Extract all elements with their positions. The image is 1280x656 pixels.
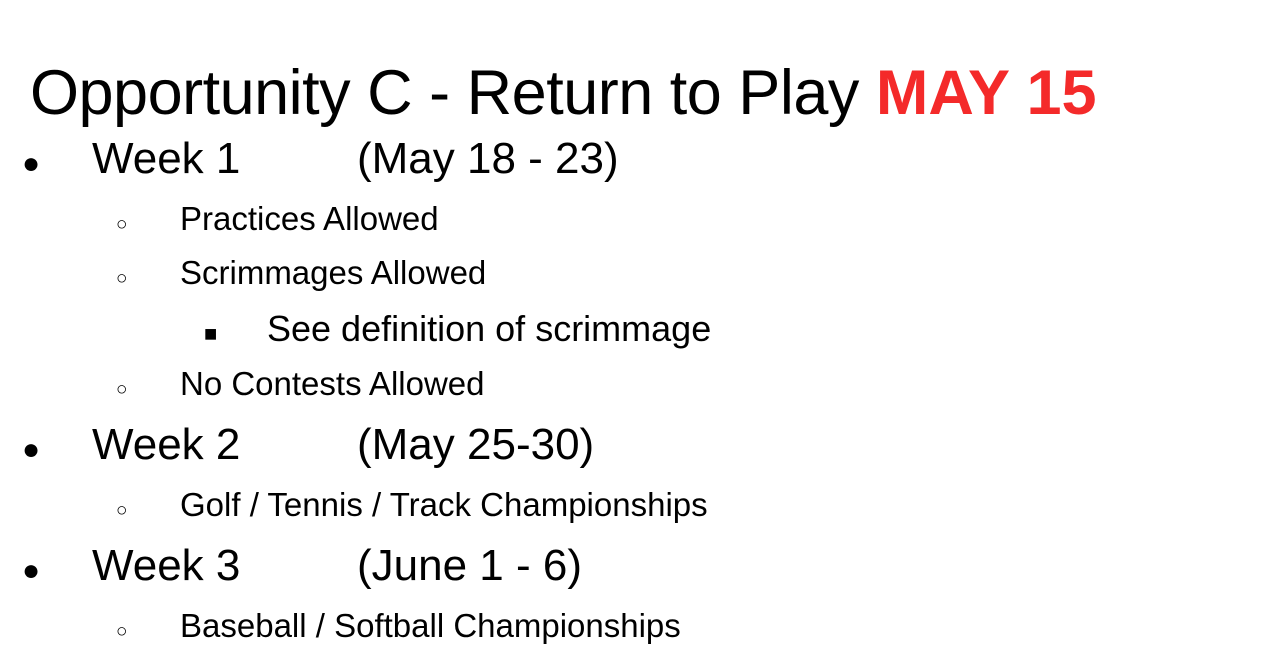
circle-bullet-icon: ○ <box>116 608 180 656</box>
circle-bullet-icon: ○ <box>116 487 180 535</box>
circle-bullet-icon: ○ <box>116 201 180 249</box>
list-item-text: See definition of scrimmage <box>267 303 711 355</box>
list-item-date: (May 25-30) <box>357 414 594 476</box>
list-item: ● Week 3 (June 1 - 6) <box>0 535 1280 602</box>
list-item: ● Week 2 (May 25-30) <box>0 414 1280 481</box>
slide-canvas: Opportunity C - Return to Play MAY 15 ● … <box>0 0 1280 640</box>
list-item-date: (June 1 - 6) <box>357 535 582 597</box>
page-title-main: Opportunity C - Return to Play <box>30 58 876 128</box>
page-title: Opportunity C - Return to Play MAY 15 <box>30 54 1260 132</box>
square-bullet-icon: ■ <box>204 308 267 360</box>
list-item-text: Baseball / Softball Championships <box>180 602 681 650</box>
bullet-list: ● Week 1 (May 18 - 23) ○ Practices Allow… <box>0 128 1280 656</box>
list-item: ○ Baseball / Softball Championships <box>0 602 1280 656</box>
list-item-text: No Contests Allowed <box>180 360 485 408</box>
disc-bullet-icon: ● <box>22 419 92 481</box>
list-item-label: Week 2 <box>92 414 357 476</box>
circle-bullet-icon: ○ <box>116 366 180 414</box>
list-item-text: Scrimmages Allowed <box>180 249 486 297</box>
list-item-text: Golf / Tennis / Track Championships <box>180 481 708 529</box>
list-item: ○ No Contests Allowed <box>0 360 1280 414</box>
disc-bullet-icon: ● <box>22 133 92 195</box>
list-item: ■ See definition of scrimmage <box>0 303 1280 360</box>
circle-bullet-icon: ○ <box>116 255 180 303</box>
list-item: ○ Practices Allowed <box>0 195 1280 249</box>
list-item-label: Week 1 <box>92 128 357 190</box>
disc-bullet-icon: ● <box>22 540 92 602</box>
page-title-accent-date: MAY 15 <box>876 58 1097 128</box>
list-item-text: Practices Allowed <box>180 195 439 243</box>
list-item-date: (May 18 - 23) <box>357 128 619 190</box>
list-item: ● Week 1 (May 18 - 23) <box>0 128 1280 195</box>
list-item: ○ Golf / Tennis / Track Championships <box>0 481 1280 535</box>
list-item-label: Week 3 <box>92 535 357 597</box>
list-item: ○ Scrimmages Allowed <box>0 249 1280 303</box>
